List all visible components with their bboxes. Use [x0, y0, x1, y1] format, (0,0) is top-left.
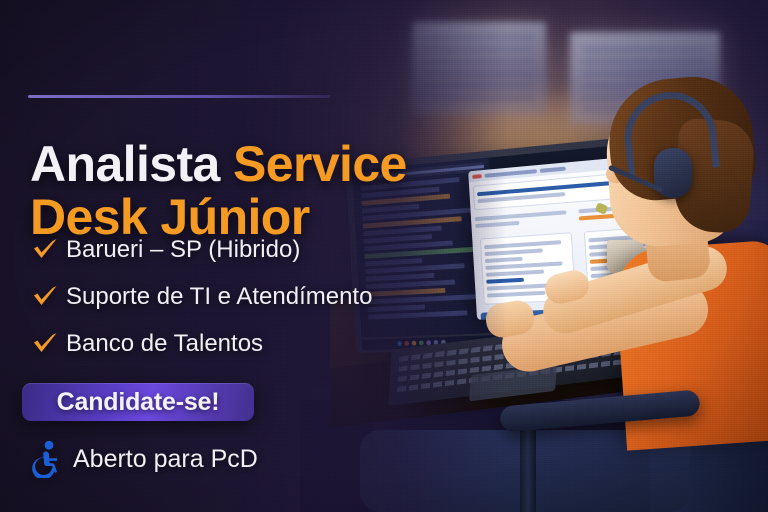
apply-button-label: Candidate-se! [57, 388, 220, 417]
apply-button[interactable]: Candidate-se! [22, 383, 254, 421]
job-ad-banner: Analista Service Desk Júnior Barueri – S… [0, 0, 768, 512]
list-item: Banco de Talentos [30, 320, 450, 367]
highlights-list: Barueri – SP (Hibrido) Suporte de TI e A… [30, 226, 450, 367]
check-icon [30, 235, 60, 265]
list-item: Barueri – SP (Hibrido) [30, 226, 450, 273]
wheelchair-icon [32, 440, 64, 478]
list-item-label: Banco de Talentos [66, 330, 263, 358]
list-item: Suporte de TI e Atendímento [30, 273, 450, 320]
list-item-label: Barueri – SP (Hibrido) [66, 236, 300, 264]
title-divider [28, 95, 330, 98]
title-part-service: Service [233, 136, 407, 192]
title-part-analista: Analista [30, 136, 233, 192]
accessibility-note: Aberto para PcD [32, 440, 258, 478]
list-item-label: Suporte de TI e Atendímento [66, 283, 372, 311]
check-icon [30, 329, 60, 359]
accessibility-label: Aberto para PcD [73, 445, 258, 474]
check-icon [30, 282, 60, 312]
